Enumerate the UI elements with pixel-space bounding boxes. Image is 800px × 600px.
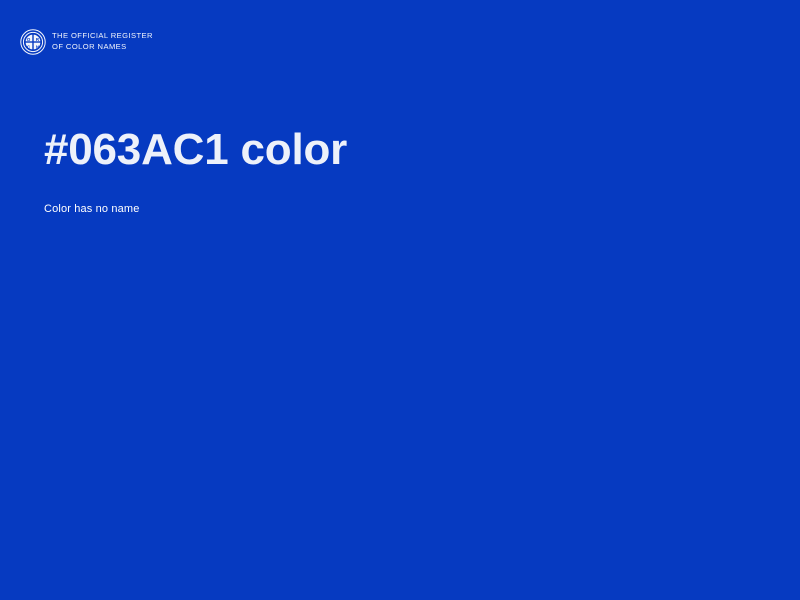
color-swatch-field [0,230,800,600]
register-seal-icon: O R C N [20,29,46,55]
svg-text:N: N [36,44,39,49]
brand-wordmark-line-2: OF COLOR NAMES [52,42,153,53]
brand-logo[interactable]: O R C N THE OFFICIAL REGISTER OF COLOR N… [20,29,153,55]
brand-wordmark-line-1: THE OFFICIAL REGISTER [52,31,153,42]
color-name-status: Color has no name [44,176,744,216]
color-info: #063AC1 color Color has no name [44,124,744,216]
svg-text:O: O [27,37,31,42]
color-page: O R C N THE OFFICIAL REGISTER OF COLOR N… [0,0,800,600]
page-title: #063AC1 color [44,124,744,176]
brand-wordmark: THE OFFICIAL REGISTER OF COLOR NAMES [52,31,153,52]
